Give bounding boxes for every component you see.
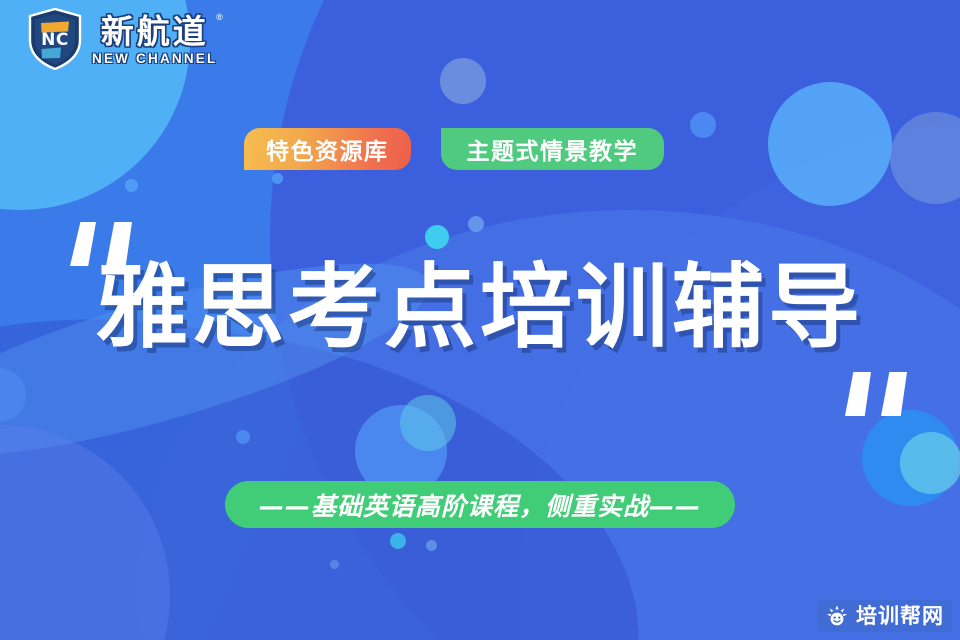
logo-english-name: NEW CHANNEL: [92, 52, 217, 66]
decor-circle-top-right: [768, 82, 892, 206]
decor-circle-cyan-bottom-mid: [400, 395, 456, 451]
promo-banner: NC 新航道 ® NEW CHANNEL 特色资源库 主题式情景教学 雅思考点培…: [0, 0, 960, 640]
registered-trademark-icon: ®: [216, 13, 223, 22]
decor-dot-left: [125, 179, 138, 192]
decor-dot-mid-lower: [236, 430, 250, 444]
logo-chinese-name: 新航道 ®: [101, 15, 209, 48]
feature-badge-group: 特色资源库 主题式情景教学: [244, 128, 664, 170]
logo-chinese-text: 新航道: [101, 13, 209, 50]
decor-dot-mid-left: [272, 173, 283, 184]
svg-text:NC: NC: [41, 30, 69, 50]
watermark-label: 培训帮网: [856, 606, 944, 627]
shield-icon: NC: [28, 8, 82, 70]
subtitle-pill: ——基础英语高阶课程，侧重实战——: [225, 481, 735, 528]
smiling-sun-face-icon: [825, 604, 849, 628]
decor-circle-cyan-right: [900, 432, 960, 494]
page-title: 雅思考点培训辅导: [96, 262, 864, 354]
decor-dot-below-pill-3: [330, 560, 339, 569]
decor-dot-faint-mid: [468, 216, 484, 232]
decor-dot-below-pill-1: [390, 533, 406, 549]
decor-dot-below-pill-2: [426, 540, 437, 551]
decor-circle-small-top-right: [690, 112, 716, 138]
badge-thematic-teaching[interactable]: 主题式情景教学: [441, 128, 665, 170]
decor-circle-muted-top: [440, 58, 486, 104]
logo-wordmark: 新航道 ® NEW CHANNEL: [92, 15, 217, 66]
site-watermark: 培训帮网: [817, 600, 952, 632]
brand-logo: NC 新航道 ® NEW CHANNEL: [28, 8, 217, 70]
close-quote-icon: [845, 372, 907, 416]
decor-dot-cyan-mid: [425, 225, 449, 249]
badge-resource-library[interactable]: 特色资源库: [244, 128, 411, 170]
